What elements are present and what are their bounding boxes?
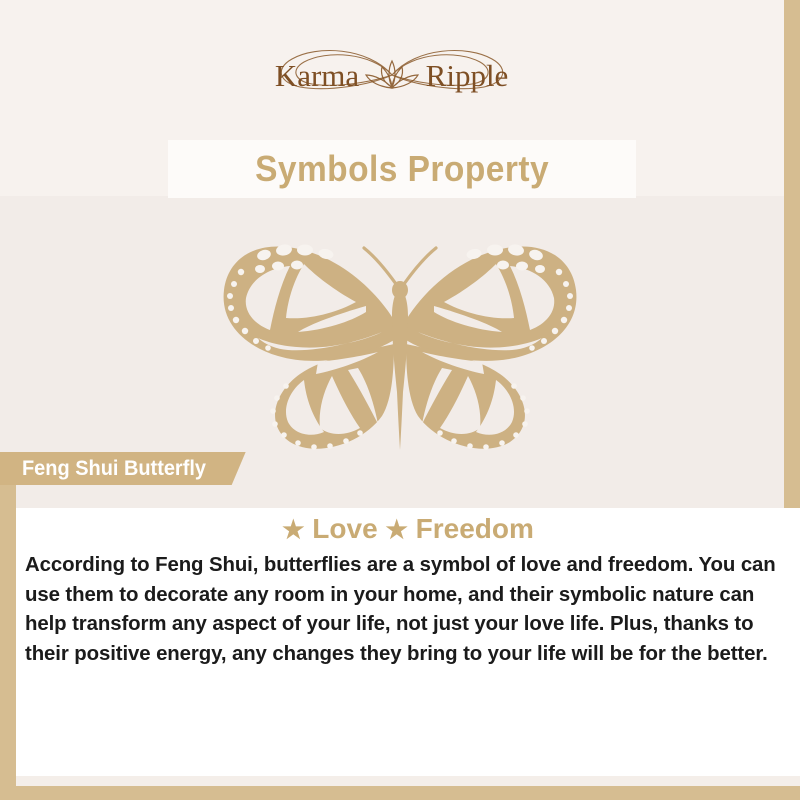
tagline: ★ Love ★ Freedom [16, 513, 800, 545]
page-title: Symbols Property [255, 148, 549, 190]
brand-logo-svg: Karma Ripple [242, 39, 542, 111]
monarch-butterfly-icon [198, 228, 602, 456]
butterfly-svg [198, 228, 602, 456]
ribbon-label: Feng Shui Butterfly [0, 452, 246, 485]
poster-canvas: Karma Ripple Symbols Property [0, 0, 800, 800]
star-icon-mid: ★ [385, 516, 407, 544]
body-paragraph: According to Feng Shui, butterflies are … [25, 551, 780, 669]
ribbon-label-text: Feng Shui Butterfly [22, 457, 206, 481]
bottom-frame-sliver [16, 776, 800, 786]
page-title-band: Symbols Property [168, 140, 636, 198]
star-icon-left: ★ [282, 516, 304, 544]
brand-name-right: Ripple [426, 58, 509, 93]
tagline-word-love: Love [312, 513, 377, 544]
left-frame-strip [0, 452, 16, 800]
brand-logo: Karma Ripple [0, 36, 784, 114]
tagline-word-freedom: Freedom [416, 513, 534, 544]
brand-name-left: Karma [275, 58, 360, 93]
